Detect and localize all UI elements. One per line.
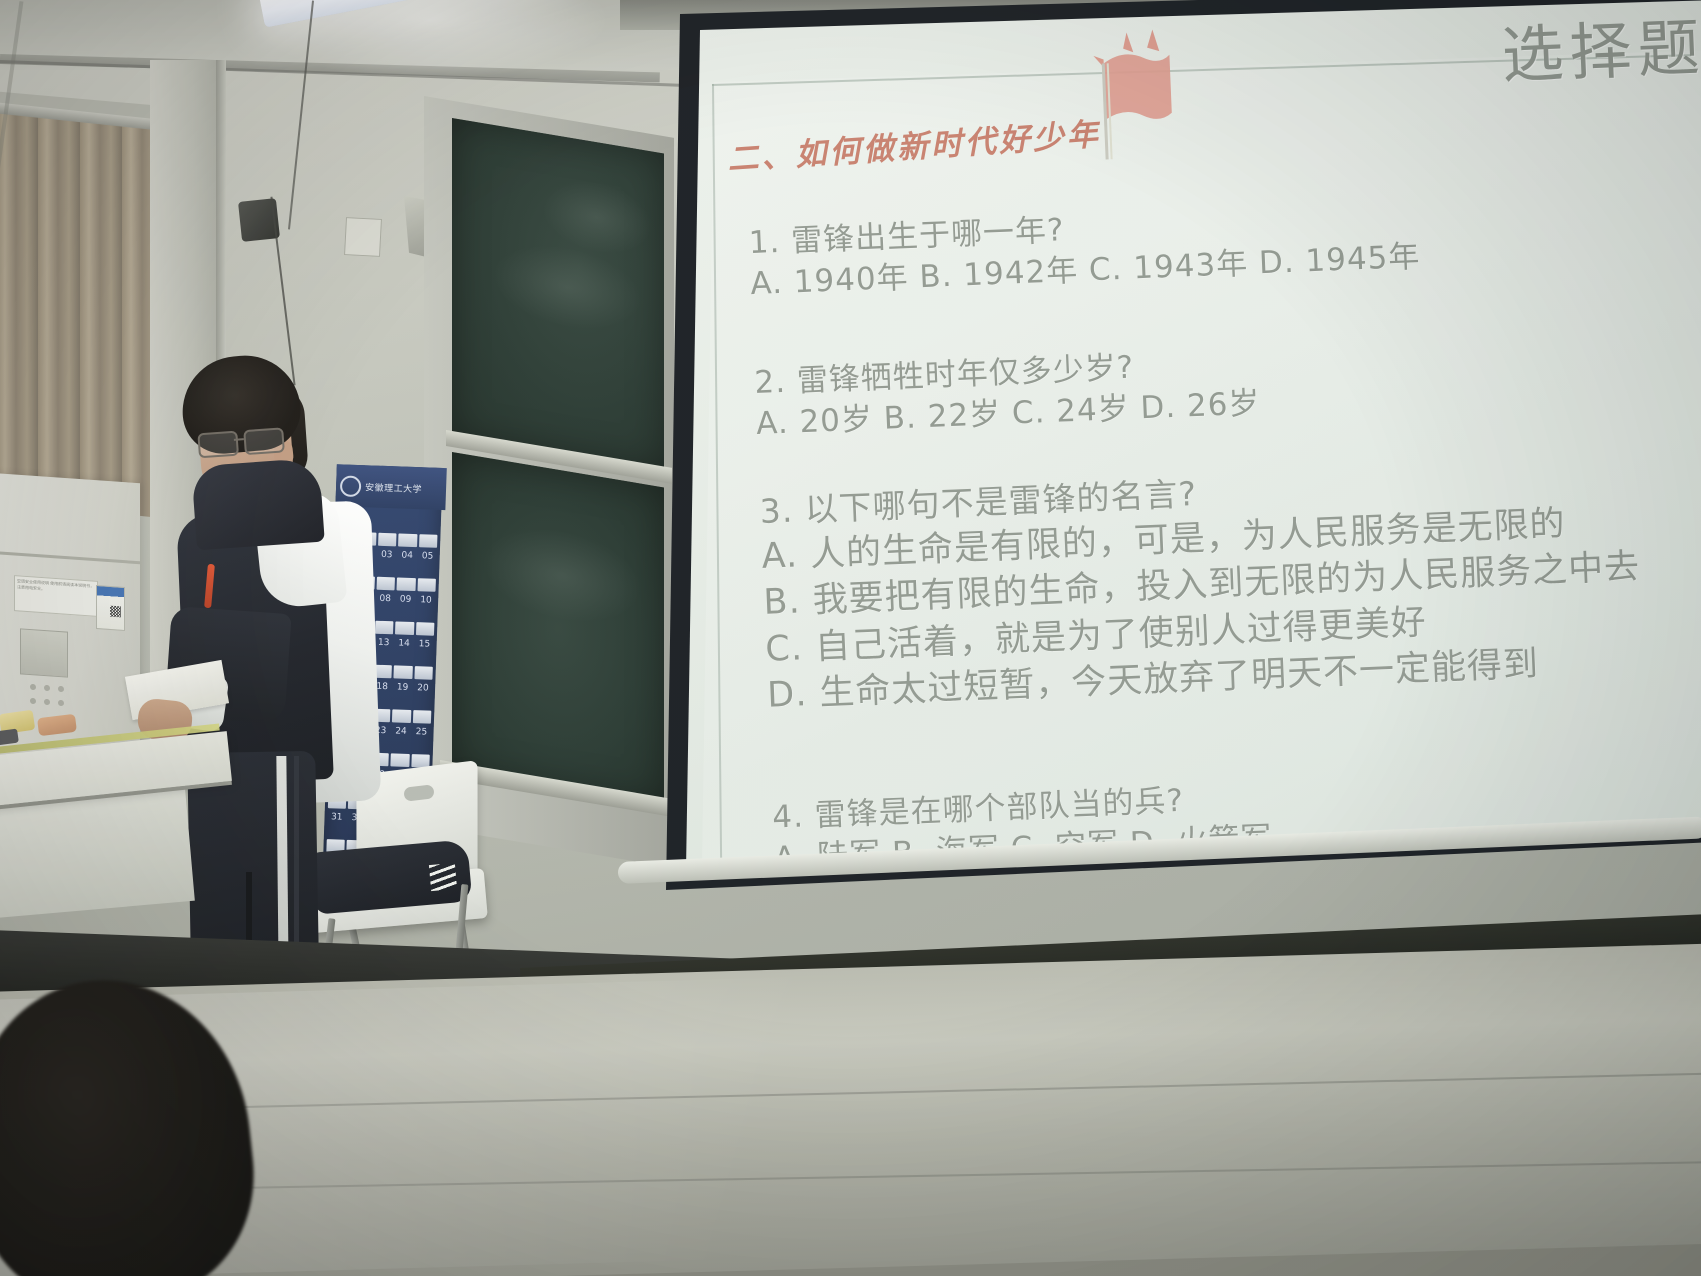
pocket-flap (413, 710, 432, 724)
ac-button-1[interactable] (30, 684, 36, 690)
slide-heading: 二、如何做新时代好少年 (726, 108, 1102, 179)
pocket-slot: 24 (392, 688, 412, 733)
pocket-flap (414, 666, 433, 680)
pocket-slot: 20 (414, 645, 434, 690)
pocket-slot: 15 (415, 601, 435, 646)
jacket-stripes (429, 863, 457, 891)
pocket-flap (416, 622, 435, 636)
pocket-slot: 14 (395, 600, 415, 645)
red-flag-icon (1072, 20, 1198, 165)
ac-button-5[interactable] (44, 699, 50, 705)
pocket-slot: 19 (393, 644, 413, 689)
ac-button-2[interactable] (44, 685, 50, 691)
ac-button-6[interactable] (58, 700, 64, 706)
pocket-slot: 25 (412, 689, 432, 734)
blackboard-lower-panel (452, 452, 664, 805)
pocket-flap (395, 621, 414, 635)
pocket-flap (391, 753, 410, 767)
blackboard-upper-panel (452, 118, 664, 471)
pocket-flap (394, 665, 413, 679)
pocket-slot: 04 (398, 512, 418, 557)
pocket-flap (417, 578, 436, 592)
classroom-photo: 选择题 二、如何做新时代好少年 1. 雷锋出生于哪一年? A. 1940年 B.… (0, 0, 1701, 1276)
ac-instruction-label: 空调安全使用说明 使用前请阅读本说明书，注意用电安全。 (14, 575, 98, 617)
presenter-jacket-collar (191, 458, 325, 551)
classroom-floor (0, 943, 1701, 1276)
pocket-slot: 10 (417, 557, 437, 602)
slide-content: 选择题 二、如何做新时代好少年 1. 雷锋出生于哪一年? A. 1940年 B.… (700, 0, 1701, 889)
pocket-slot: 09 (396, 556, 416, 601)
pocket-slot: 05 (418, 513, 438, 558)
wall-outlet-box (344, 217, 382, 257)
pocket-flap (397, 577, 416, 591)
slide-question-3: 3. 以下哪句不是雷锋的名言? A. 人的生命是有限的，可是，为人民服务是无限的… (759, 454, 1645, 720)
slide-title: 选择题 (1500, 0, 1701, 95)
slide-question-2: 2. 雷锋牺牲时年仅多少岁? A. 20岁 B. 22岁 C. 24岁 D. 2… (754, 342, 1262, 444)
pocket-flap (392, 709, 411, 723)
pocket-flap (419, 534, 438, 548)
ac-button-3[interactable] (58, 686, 64, 692)
ac-button-4[interactable] (30, 698, 36, 704)
ac-control-display (20, 628, 68, 677)
slide-question-1: 1. 雷锋出生于哪一年? A. 1940年 B. 1942年 C. 1943年 … (748, 196, 1421, 305)
pocket-flap (398, 533, 417, 547)
